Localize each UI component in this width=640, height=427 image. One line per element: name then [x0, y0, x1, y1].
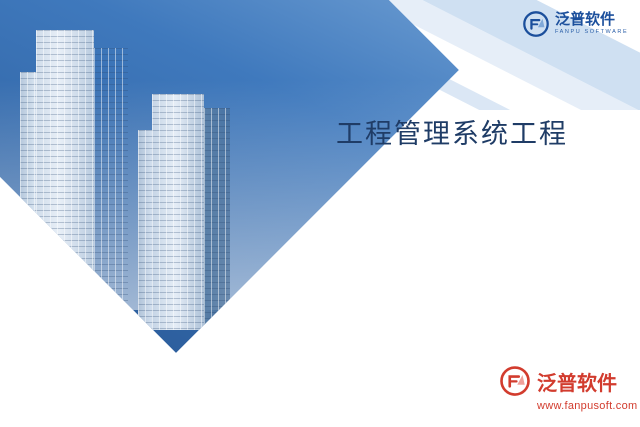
brand-text-top: 泛普软件 FANPU SOFTWARE	[555, 12, 628, 36]
building-right-main	[152, 94, 204, 330]
brand-bottom-row: 泛普软件	[500, 366, 617, 396]
window-grid	[138, 130, 152, 330]
brand-name-en: FANPU SOFTWARE	[555, 30, 628, 36]
building-left-main	[36, 30, 94, 330]
brand-name-cn: 泛普软件	[537, 367, 617, 396]
building-right-dark	[204, 108, 230, 330]
window-grid	[36, 30, 94, 330]
brand-name-cn: 泛普软件	[555, 12, 628, 27]
page-title: 工程管理系统工程	[336, 112, 568, 151]
slide-canvas: 工程管理系统工程 泛普软件 FANPU SOFTWARE	[0, 0, 640, 427]
blue-diamond-banner	[0, 0, 376, 270]
diamond-shape	[0, 0, 459, 353]
brand-website: www.fanpusoft.com	[537, 400, 637, 412]
building-left-dark	[94, 48, 128, 330]
city-skyscrapers-illustration	[0, 0, 376, 270]
brand-logo-top: 泛普软件 FANPU SOFTWARE	[523, 11, 628, 37]
building-left-slim	[20, 72, 36, 330]
fanpu-logo-mark-icon	[523, 11, 549, 37]
window-grid	[204, 108, 230, 330]
building-right-slim	[138, 130, 152, 330]
window-grid	[94, 48, 128, 330]
window-grid	[152, 94, 204, 330]
window-grid	[20, 72, 36, 330]
fanpu-logo-mark-icon	[500, 366, 530, 396]
brand-logo-bottom: 泛普软件 www.fanpusoft.com	[500, 366, 637, 412]
